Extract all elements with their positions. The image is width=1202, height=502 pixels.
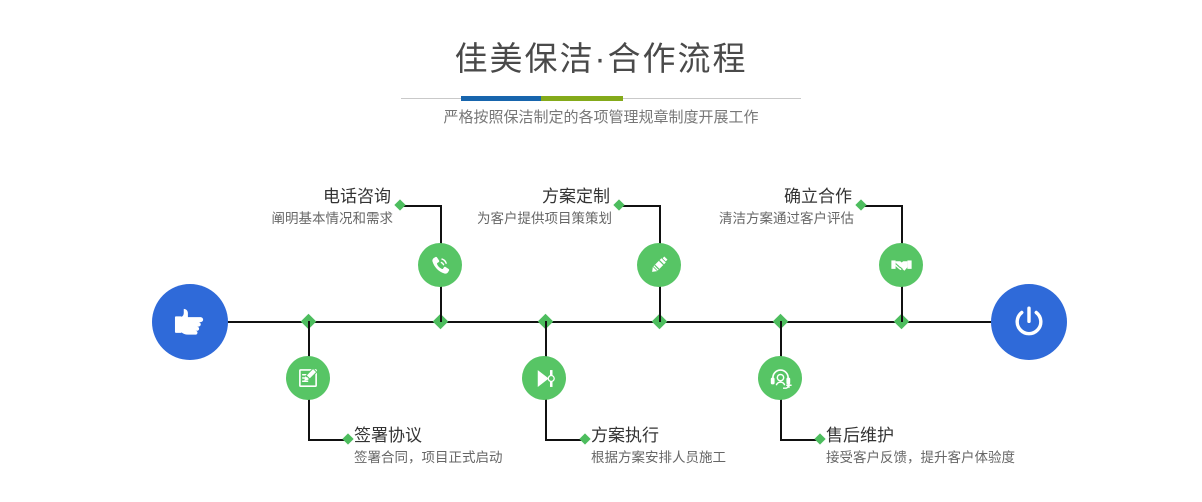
step-icon-6[interactable] [758, 356, 802, 400]
connector-tip-step-4 [579, 433, 590, 444]
connector-hline-step-5 [861, 205, 901, 207]
step-icon-2[interactable] [286, 356, 330, 400]
page-title: 佳美保洁·合作流程 [0, 38, 1202, 80]
step-icon-1[interactable] [418, 243, 462, 287]
step-label-1: 电话咨询 阐明基本情况和需求 [215, 186, 393, 230]
divider-segment-blue [461, 96, 541, 101]
step-title-3: 方案定制 [434, 186, 612, 208]
step-title-2: 签署协议 [354, 425, 503, 447]
pointing-hand-icon [169, 301, 211, 343]
step-icon-4[interactable] [522, 356, 566, 400]
headset-plus-icon [767, 365, 794, 392]
connector-tip-step-3 [613, 199, 624, 210]
page-subtitle: 严格按照保洁制定的各项管理规章制度开展工作 [0, 106, 1202, 130]
step-icon-3[interactable] [637, 243, 681, 287]
connector-tip-step-1 [394, 199, 405, 210]
connector-tip-step-6 [814, 433, 825, 444]
title-divider [401, 96, 801, 101]
document-pen-icon [295, 365, 321, 391]
flow-diagram-page: 佳美保洁·合作流程 严格按照保洁制定的各项管理规章制度开展工作 [0, 0, 1202, 502]
power-icon [1008, 301, 1050, 343]
step-label-4: 方案执行 根据方案安排人员施工 [591, 425, 726, 469]
handshake-icon [888, 252, 915, 279]
flow-start-badge[interactable] [152, 284, 228, 360]
flow-end-badge[interactable] [991, 284, 1067, 360]
step-label-3: 方案定制 为客户提供项目策策划 [434, 186, 612, 230]
divider-segment-green [541, 96, 623, 101]
play-skip-icon [531, 365, 558, 392]
step-desc-2: 签署合同，项目正式启动 [354, 447, 503, 469]
step-title-6: 售后维护 [826, 425, 1015, 447]
step-icon-5[interactable] [879, 243, 923, 287]
step-desc-6: 接受客户反馈，提升客户体验度 [826, 447, 1015, 469]
step-label-2: 签署协议 签署合同，项目正式启动 [354, 425, 503, 469]
step-title-4: 方案执行 [591, 425, 726, 447]
pencil-design-icon [646, 252, 672, 278]
step-label-6: 售后维护 接受客户反馈，提升客户体验度 [826, 425, 1015, 469]
step-title-1: 电话咨询 [215, 186, 393, 208]
step-title-5: 确立合作 [676, 186, 854, 208]
connector-tip-step-5 [855, 199, 866, 210]
connector-hline-step-3 [619, 205, 659, 207]
step-desc-1: 阐明基本情况和需求 [215, 208, 393, 230]
step-label-5: 确立合作 清洁方案通过客户评估 [676, 186, 854, 230]
step-desc-3: 为客户提供项目策策划 [434, 208, 612, 230]
connector-tip-step-2 [342, 433, 353, 444]
step-desc-4: 根据方案安排人员施工 [591, 447, 726, 469]
phone-call-icon [427, 252, 453, 278]
step-desc-5: 清洁方案通过客户评估 [676, 208, 854, 230]
